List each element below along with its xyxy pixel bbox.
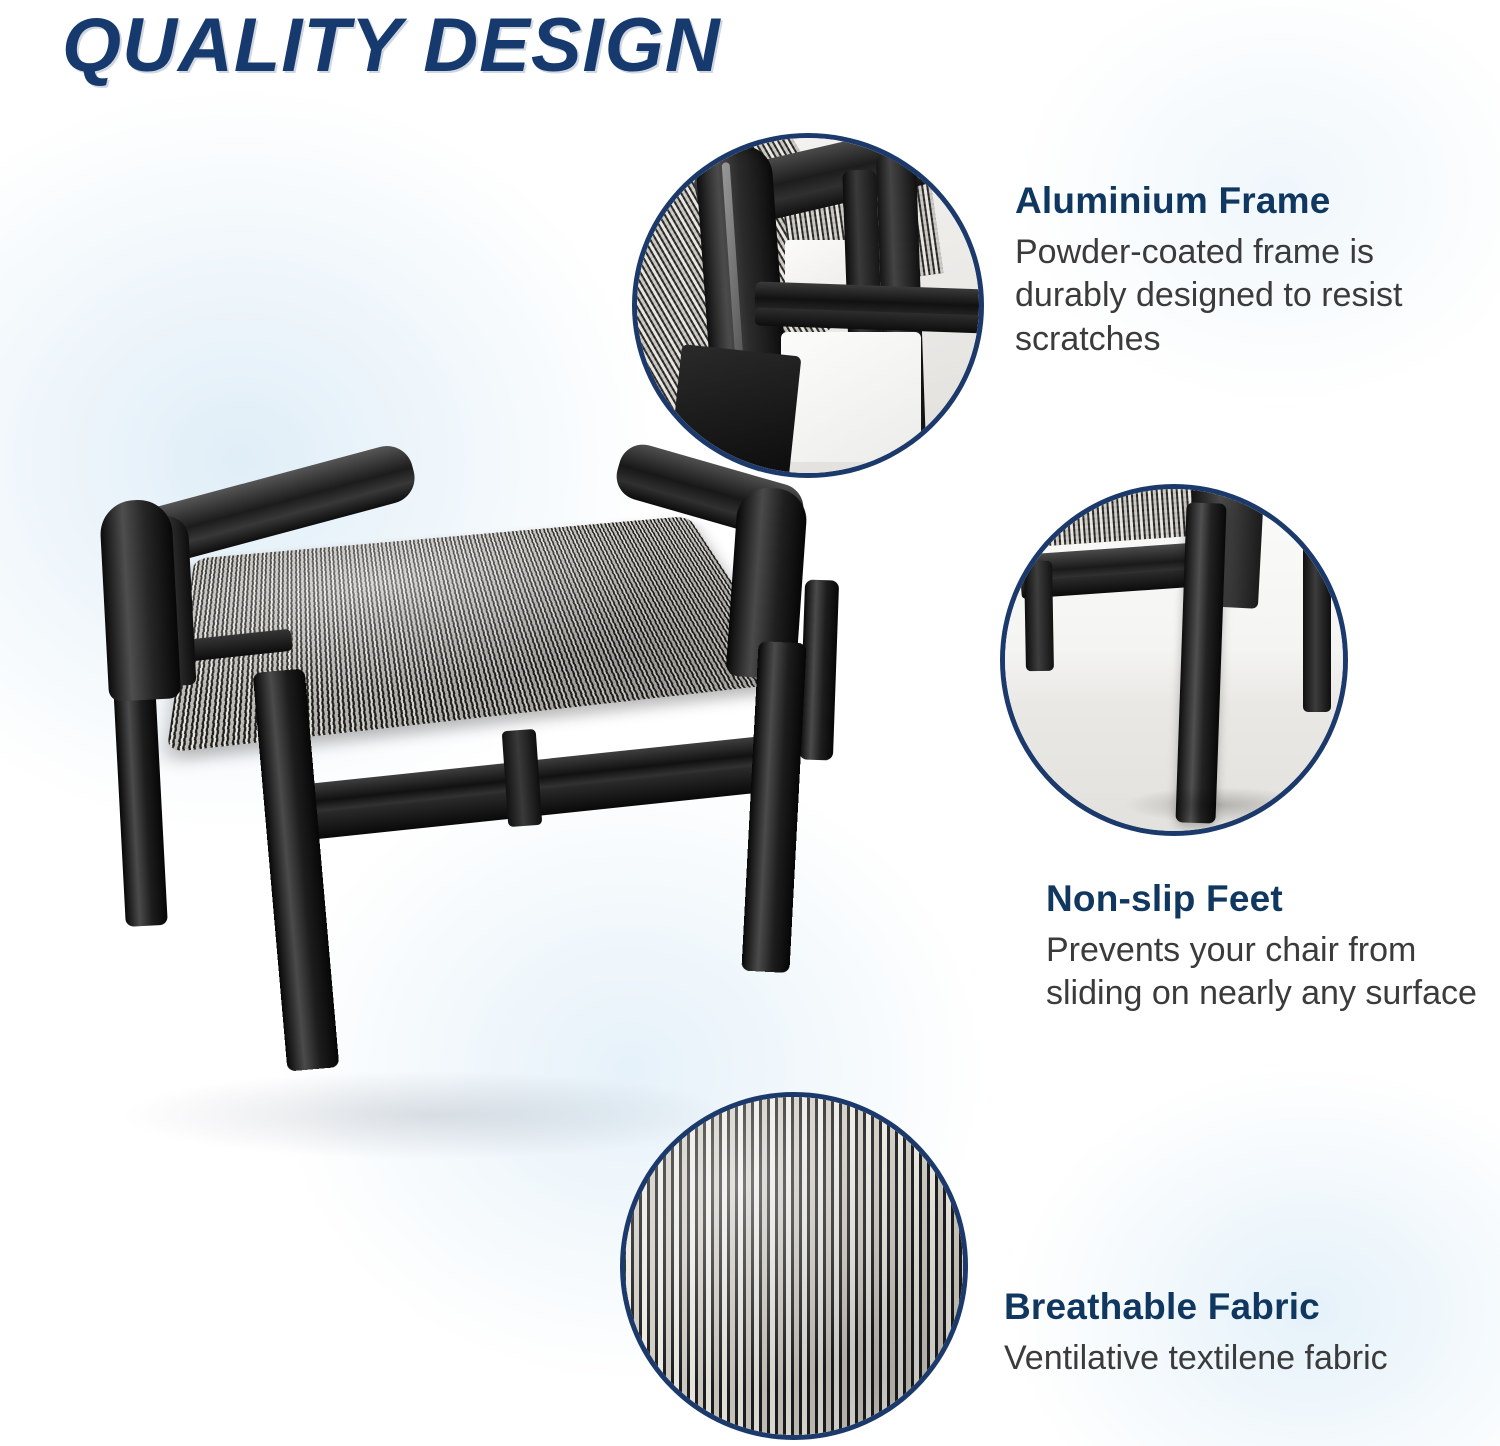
feature-text-aluminium-frame: Aluminium Frame Powder-coated frame is d… <box>1015 182 1485 361</box>
ottoman-arm-left <box>99 498 181 701</box>
feature-heading-breathable-fabric: Breathable Fabric <box>1004 1288 1494 1327</box>
callout-circle-aluminium-frame <box>632 133 984 478</box>
page-title: QUALITY DESIGN <box>62 2 721 89</box>
feature-body-non-slip-feet: Prevents your chair from sliding on near… <box>1046 929 1496 1016</box>
callout-circle-non-slip-feet <box>1000 484 1348 836</box>
ottoman-leg-front-right <box>741 641 806 973</box>
fabric-closeup-weave <box>623 1095 965 1437</box>
callout-circle-breathable-fabric <box>620 1092 968 1440</box>
feet-closeup-floor-shadow <box>1123 787 1313 823</box>
feature-body-breathable-fabric: Ventilative textilene fabric <box>1004 1337 1494 1381</box>
product-image-ottoman <box>60 430 890 1190</box>
feature-body-aluminium-frame: Powder-coated frame is durably designed … <box>1015 231 1485 362</box>
feature-heading-non-slip-feet: Non-slip Feet <box>1046 880 1496 919</box>
frame-closeup-lower-frame <box>669 344 802 475</box>
feet-closeup-leg-right <box>1303 517 1331 712</box>
frame-closeup-panel-lower <box>781 332 921 462</box>
ottoman-center-bracket <box>502 729 543 827</box>
feature-text-non-slip-feet: Non-slip Feet Prevents your chair from s… <box>1046 880 1496 1016</box>
feature-text-breathable-fabric: Breathable Fabric Ventilative textilene … <box>1004 1288 1494 1380</box>
feet-closeup-leg-left <box>1024 561 1054 671</box>
infographic-canvas: QUALITY DESIGN <box>0 0 1500 1446</box>
feature-heading-aluminium-frame: Aluminium Frame <box>1015 182 1485 221</box>
